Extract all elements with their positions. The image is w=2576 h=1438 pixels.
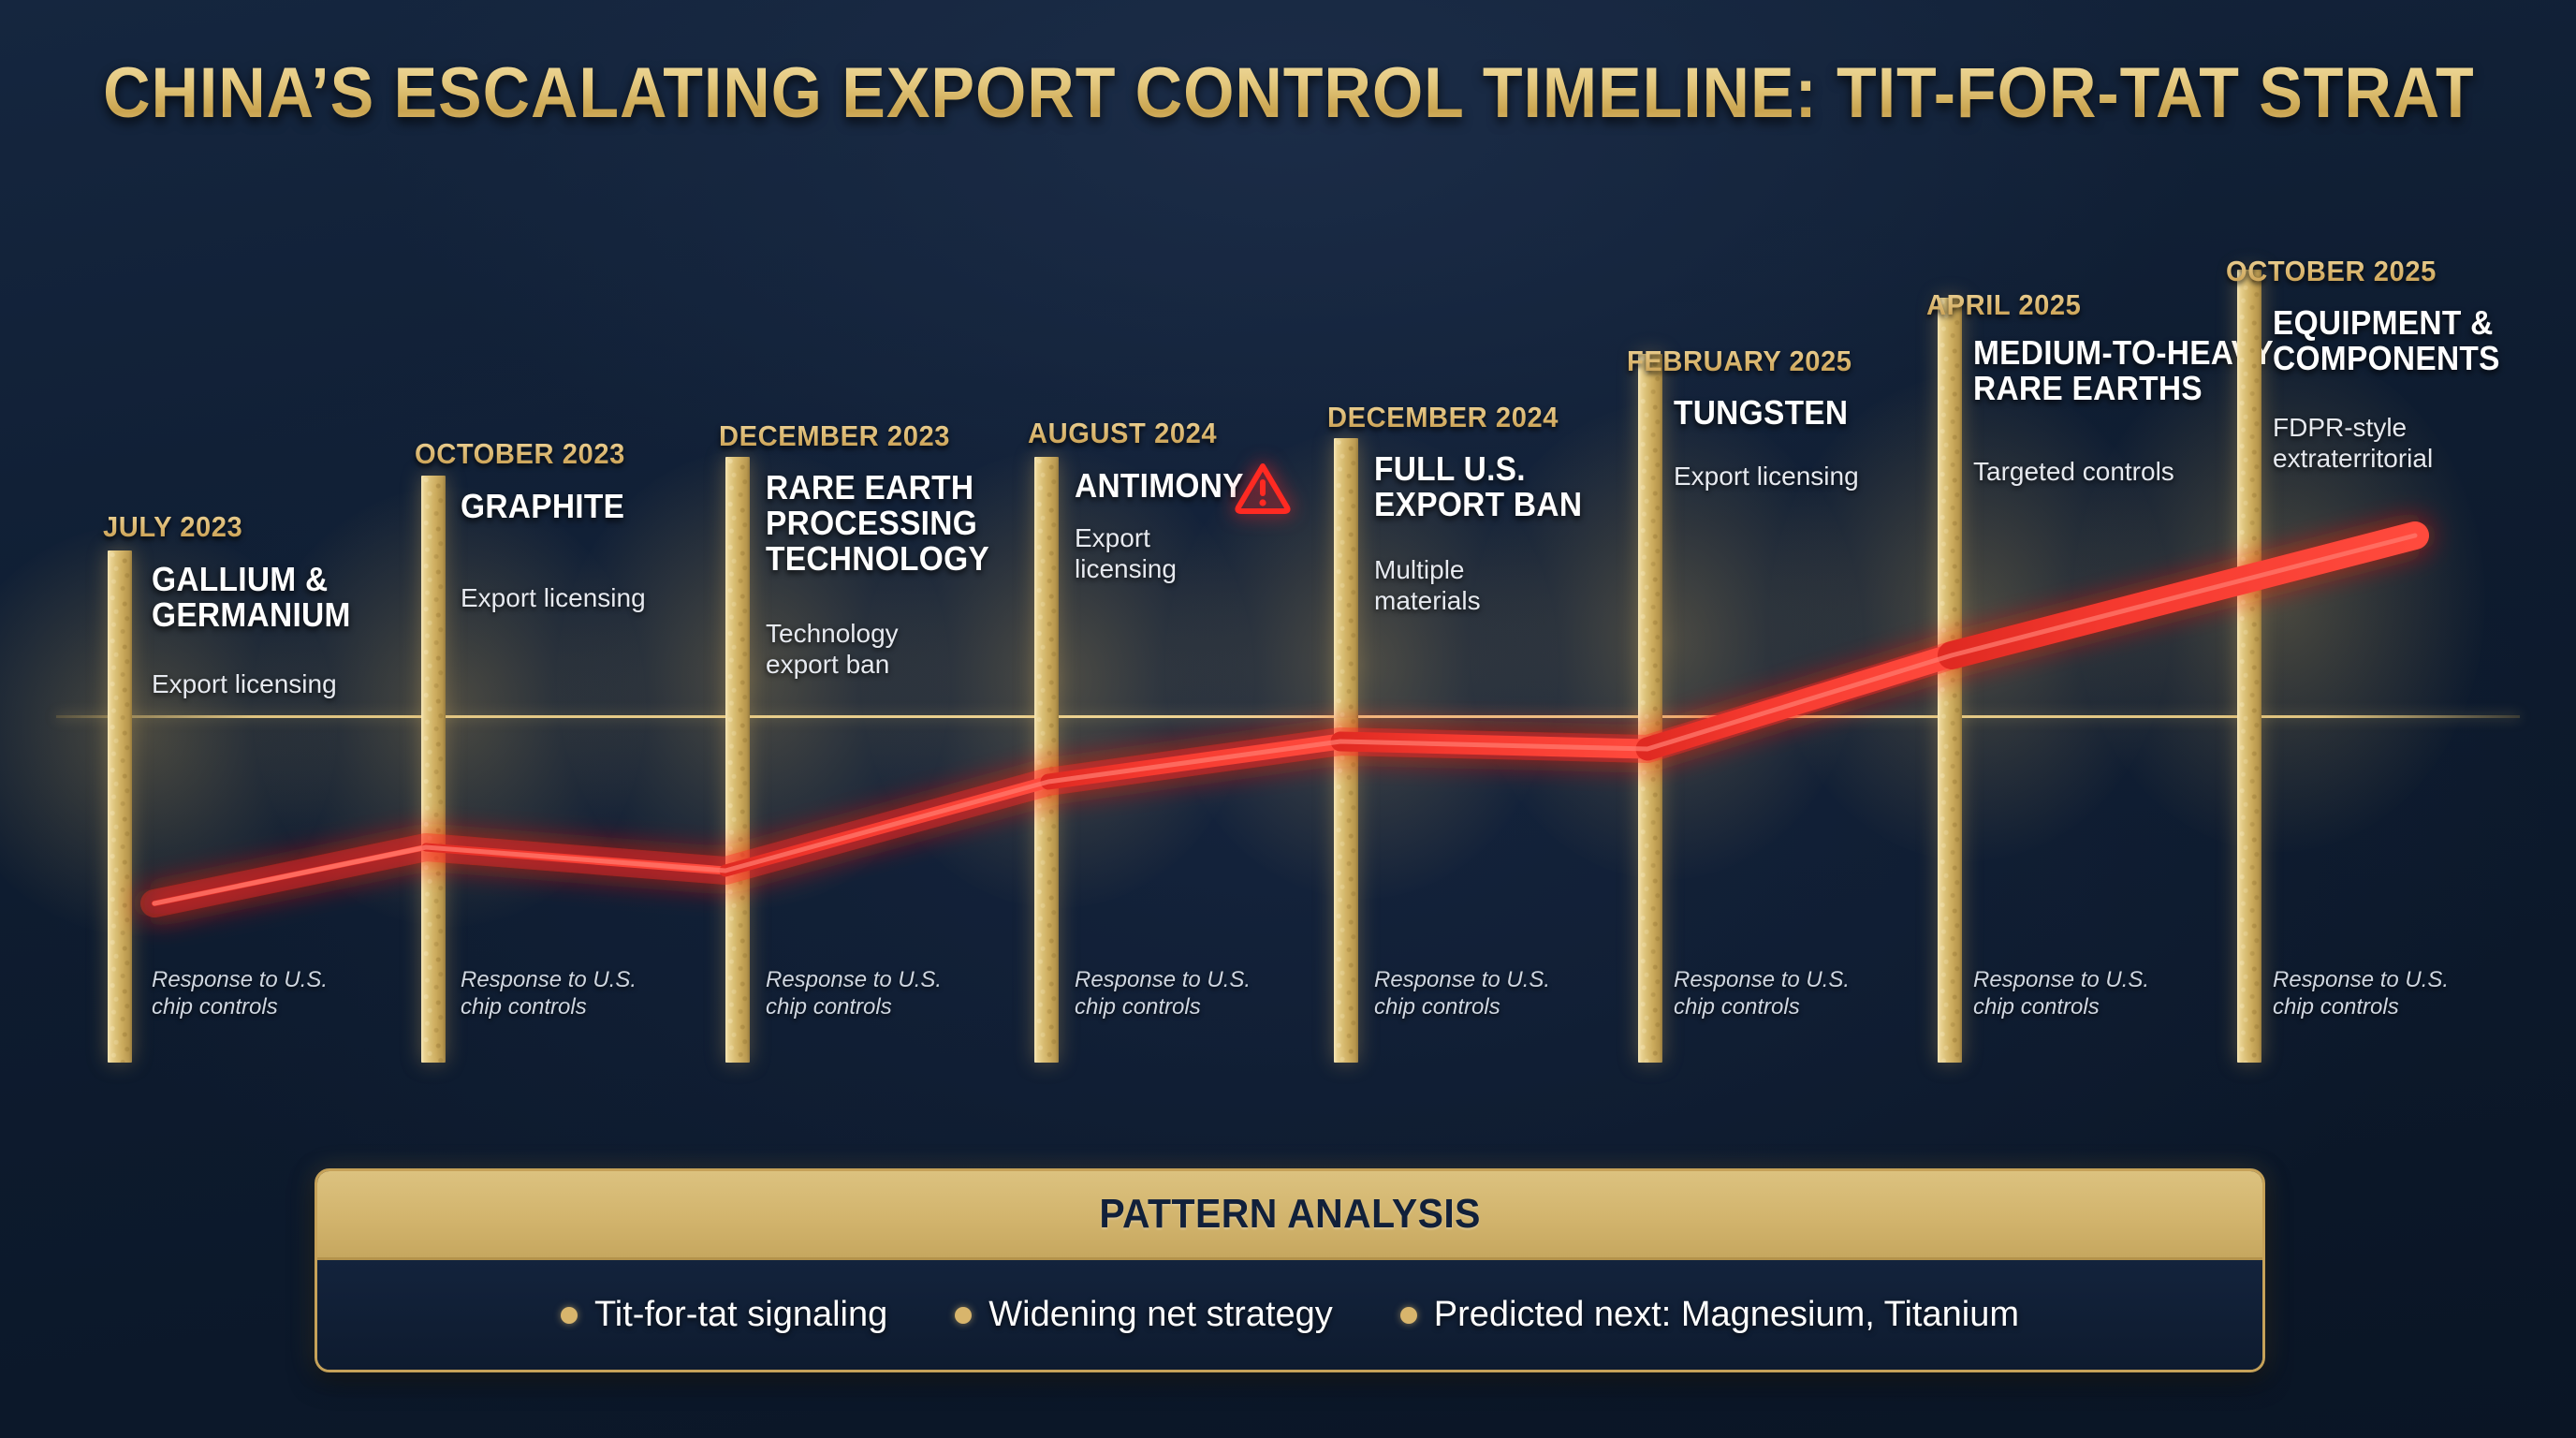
event-title: MEDIUM-TO-HEAVY RARE EARTHS	[1973, 335, 2274, 406]
timeline-region: JULY 2023 GALLIUM & GERMANIUM Export lic…	[0, 0, 2576, 1123]
event-footnote: Response to U.S. chip controls	[461, 966, 637, 1021]
timeline-pillar	[1938, 298, 1962, 1063]
event-footnote: Response to U.S. chip controls	[2273, 966, 2449, 1021]
timeline-pillar	[2237, 270, 2261, 1063]
pillar-glow	[253, 487, 646, 927]
event-date: OCTOBER 2023	[415, 437, 625, 471]
event-title: RARE EARTH PROCESSING TECHNOLOGY	[766, 470, 989, 576]
timeline-pillar	[108, 550, 132, 1063]
event-date: OCTOBER 2025	[2226, 255, 2437, 288]
event-title: ANTIMONY	[1075, 468, 1244, 504]
event-footnote: Response to U.S. chip controls	[1075, 966, 1251, 1021]
pattern-analysis-title: PATTERN ANALYSIS	[1099, 1191, 1481, 1238]
list-item: Widening net strategy	[955, 1295, 1333, 1335]
event-date: JULY 2023	[103, 510, 242, 544]
list-item-label: Widening net strategy	[988, 1295, 1333, 1335]
timeline-pillar	[725, 457, 750, 1063]
bullet-dot-icon	[955, 1307, 972, 1324]
event-footnote: Response to U.S. chip controls	[1973, 966, 2149, 1021]
list-item: Tit-for-tat signaling	[561, 1295, 887, 1335]
event-desc: Technology export ban	[766, 618, 899, 680]
timeline-pillar	[1334, 438, 1358, 1063]
event-desc: FDPR-style extraterritorial	[2273, 412, 2433, 474]
event-desc: Export licensing	[461, 582, 646, 613]
escalation-trend-line	[0, 0, 2576, 1123]
event-title: GALLIUM & GERMANIUM	[152, 562, 351, 633]
pillar-glow	[1769, 374, 2172, 861]
event-date: DECEMBER 2024	[1327, 401, 1559, 434]
event-desc: Export licensing	[152, 668, 337, 699]
pattern-analysis-panel: PATTERN ANALYSIS Tit-for-tat signaling W…	[315, 1168, 2265, 1372]
timeline-pillar	[1034, 457, 1059, 1063]
event-footnote: Response to U.S. chip controls	[766, 966, 942, 1021]
event-desc: Export licensing	[1075, 522, 1177, 584]
event-date: APRIL 2025	[1926, 288, 2081, 322]
event-date: DECEMBER 2023	[719, 419, 950, 453]
pattern-analysis-body: Tit-for-tat signaling Widening net strat…	[317, 1260, 2262, 1370]
pattern-analysis-header: PATTERN ANALYSIS	[317, 1171, 2262, 1260]
warning-triangle-icon	[1234, 461, 1292, 515]
event-title: EQUIPMENT & COMPONENTS	[2273, 305, 2500, 376]
list-item: Predicted next: Magnesium, Titanium	[1400, 1295, 2019, 1335]
event-title: TUNGSTEN	[1674, 395, 1848, 431]
list-item-label: Predicted next: Magnesium, Titanium	[1434, 1295, 2019, 1335]
event-desc: Multiple materials	[1374, 554, 1481, 616]
event-footnote: Response to U.S. chip controls	[1674, 966, 1850, 1021]
bullet-dot-icon	[561, 1307, 578, 1324]
event-desc: Targeted controls	[1973, 456, 2174, 487]
event-title: GRAPHITE	[461, 489, 624, 524]
event-date: AUGUST 2024	[1028, 417, 1217, 450]
event-footnote: Response to U.S. chip controls	[152, 966, 328, 1021]
timeline-pillar	[1638, 354, 1662, 1063]
event-desc: Export licensing	[1674, 461, 1859, 492]
event-title: FULL U.S. EXPORT BAN	[1374, 451, 1582, 522]
timeline-pillar	[421, 476, 446, 1063]
event-date: FEBRUARY 2025	[1627, 345, 1852, 378]
infographic-canvas: CHINA’S ESCALATING EXPORT CONTROL TIMELI…	[0, 0, 2576, 1438]
list-item-label: Tit-for-tat signaling	[594, 1295, 887, 1335]
event-footnote: Response to U.S. chip controls	[1374, 966, 1550, 1021]
bullet-dot-icon	[1400, 1307, 1417, 1324]
